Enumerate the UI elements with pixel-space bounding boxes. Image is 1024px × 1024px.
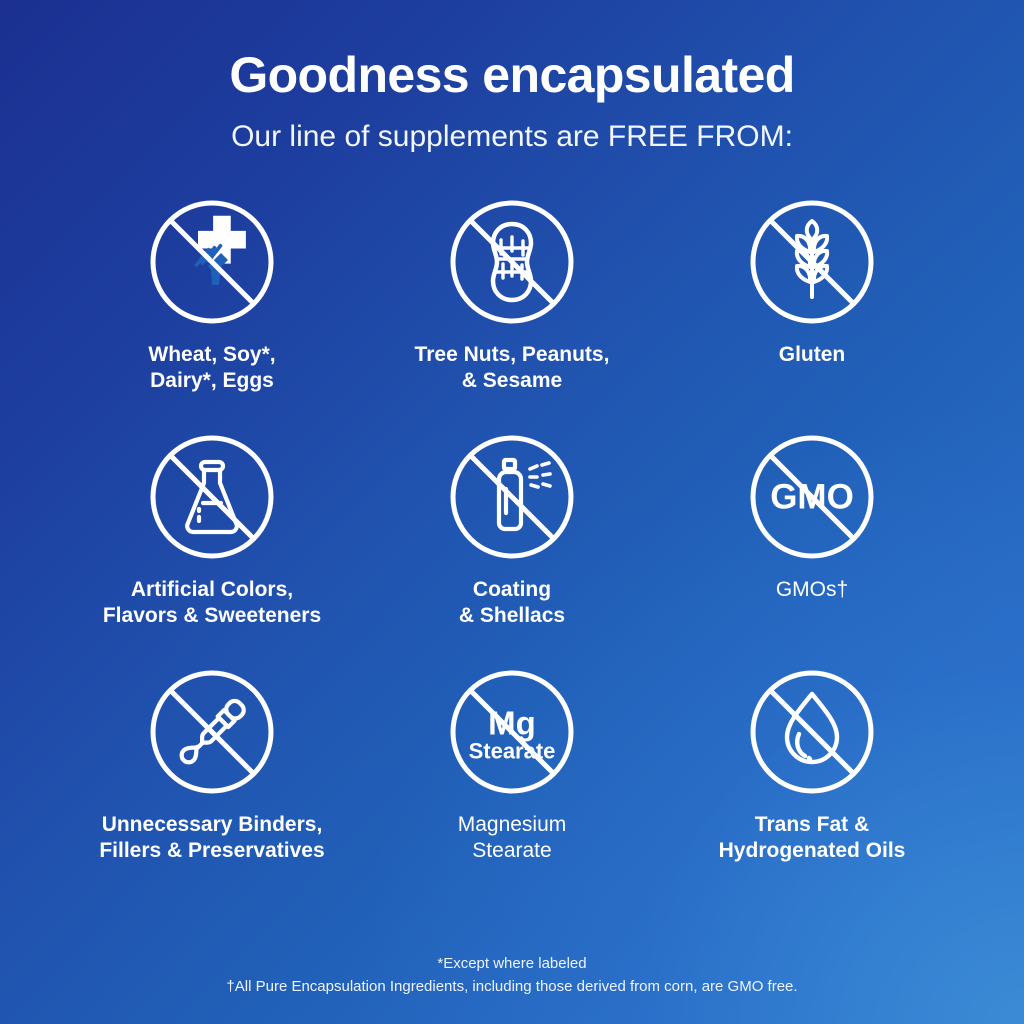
no-binders-fillers-preservatives-icon	[146, 666, 278, 798]
footnote-gmo-free: †All Pure Encapsulation Ingredients, inc…	[0, 975, 1024, 998]
free-from-item-coating-shellacs: Coating & Shellacs	[362, 431, 662, 666]
free-from-item-tree-nuts-peanuts-sesame: Tree Nuts, Peanuts, & Sesame	[362, 196, 662, 431]
infographic-poster: Goodness encapsulated Our line of supple…	[0, 0, 1024, 1024]
free-from-item-binders-fillers-preservatives: Unnecessary Binders, Fillers & Preservat…	[62, 666, 362, 901]
page-title: Goodness encapsulated	[0, 48, 1024, 102]
poster-header: Goodness encapsulated Our line of supple…	[0, 0, 1024, 153]
no-wheat-soy-dairy-eggs-icon	[146, 196, 278, 328]
free-from-item-label: Wheat, Soy*, Dairy*, Eggs	[148, 342, 275, 393]
no-coating-shellacs-icon	[446, 431, 578, 563]
mg-text: Mg	[488, 705, 536, 742]
free-from-item-wheat-soy-dairy-eggs: Wheat, Soy*, Dairy*, Eggs	[62, 196, 362, 431]
footnote-except-where-labeled: *Except where labeled	[0, 952, 1024, 975]
free-from-item-label: Artificial Colors, Flavors & Sweeteners	[103, 577, 321, 628]
no-tree-nuts-peanuts-sesame-icon	[446, 196, 578, 328]
free-from-item-label: Magnesium Stearate	[458, 812, 567, 863]
no-artificial-colors-icon	[146, 431, 278, 563]
free-from-item-label: Coating & Shellacs	[459, 577, 565, 628]
no-gluten-icon	[746, 196, 878, 328]
free-from-item-magnesium-stearate: Mg Stearate Magnesium Stearate	[362, 666, 662, 901]
free-from-grid: Wheat, Soy*, Dairy*, Eggs	[62, 196, 962, 901]
no-gmo-icon: GMO	[746, 431, 878, 563]
free-from-item-gluten: Gluten	[662, 196, 962, 431]
footnotes: *Except where labeled †All Pure Encapsul…	[0, 952, 1024, 999]
free-from-item-label: Tree Nuts, Peanuts, & Sesame	[415, 342, 610, 393]
free-from-item-label: Gluten	[779, 342, 846, 368]
free-from-item-trans-fat: Trans Fat & Hydrogenated Oils	[662, 666, 962, 901]
free-from-item-artificial-colors: Artificial Colors, Flavors & Sweeteners	[62, 431, 362, 666]
page-subtitle: Our line of supplements are FREE FROM:	[0, 120, 1024, 153]
no-trans-fat-icon	[746, 666, 878, 798]
free-from-item-gmos: GMO GMOs†	[662, 431, 962, 666]
no-magnesium-stearate-icon: Mg Stearate	[446, 666, 578, 798]
free-from-item-label: Unnecessary Binders, Fillers & Preservat…	[99, 812, 324, 863]
free-from-item-label: GMOs†	[776, 577, 848, 603]
free-from-item-label: Trans Fat & Hydrogenated Oils	[719, 812, 906, 863]
